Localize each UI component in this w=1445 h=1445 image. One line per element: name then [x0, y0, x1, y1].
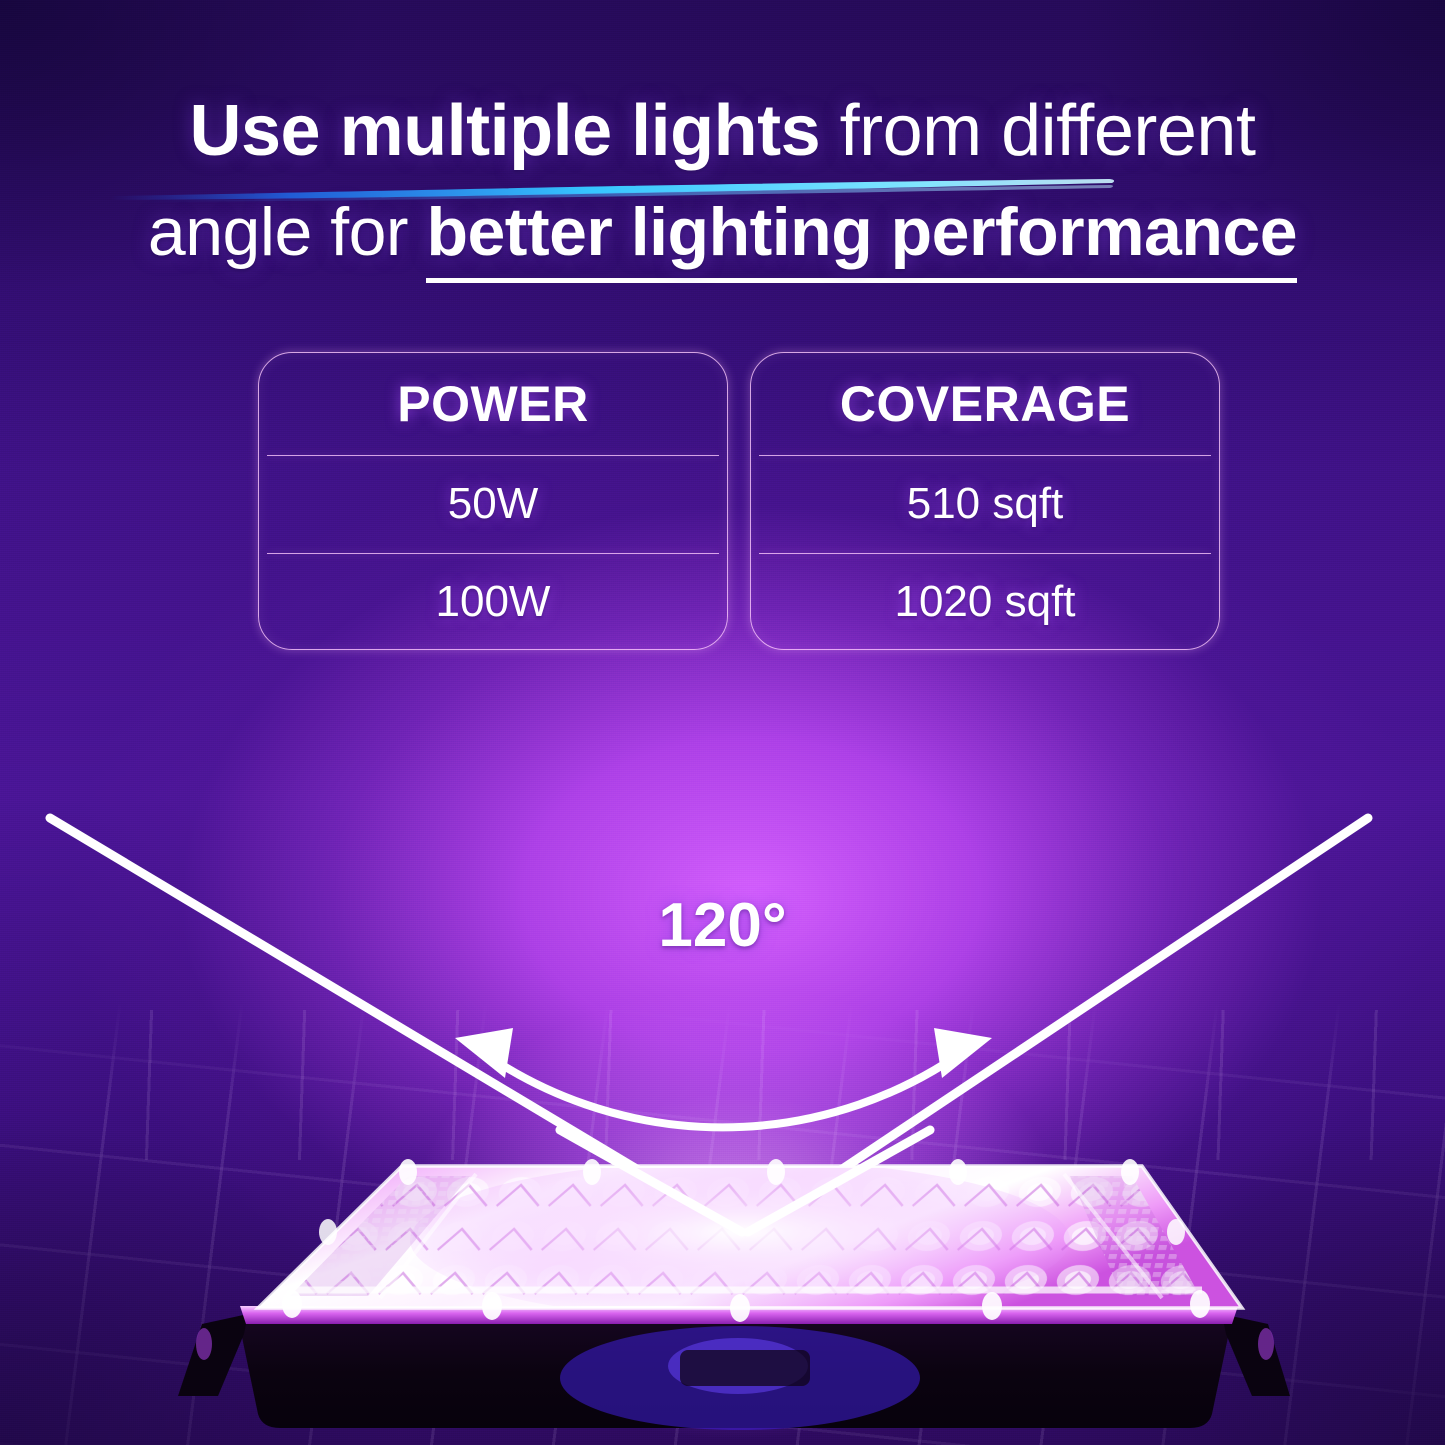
- spec-value-coverage-1: 510 sqft: [751, 455, 1219, 553]
- spec-table: POWER 50W 100W COVERAGE 510 sqft 1020 sq…: [258, 352, 1220, 650]
- bracket-left: [178, 1314, 248, 1396]
- product-infographic: Use multiple lights from different angle…: [0, 0, 1445, 1445]
- spec-value-coverage-2: 1020 sqft: [751, 553, 1219, 651]
- spec-column-coverage: COVERAGE 510 sqft 1020 sqft: [750, 352, 1220, 650]
- floodlight-illustration: [140, 1128, 1320, 1445]
- screw-side-right: [1167, 1219, 1185, 1245]
- led-floodlight: [140, 1128, 1320, 1445]
- bracket-right-bolt: [1258, 1328, 1274, 1360]
- bracket-left-bolt: [196, 1328, 212, 1360]
- spec-header-power: POWER: [259, 353, 727, 455]
- housing-label: [680, 1350, 810, 1386]
- spec-column-power: POWER 50W 100W: [258, 352, 728, 650]
- screw-side-left: [319, 1219, 337, 1245]
- spec-header-coverage: COVERAGE: [751, 353, 1219, 455]
- spec-value-power-1: 50W: [259, 455, 727, 553]
- spec-value-power-2: 100W: [259, 553, 727, 651]
- led-array: [290, 1160, 1202, 1320]
- bracket-right: [1222, 1314, 1290, 1396]
